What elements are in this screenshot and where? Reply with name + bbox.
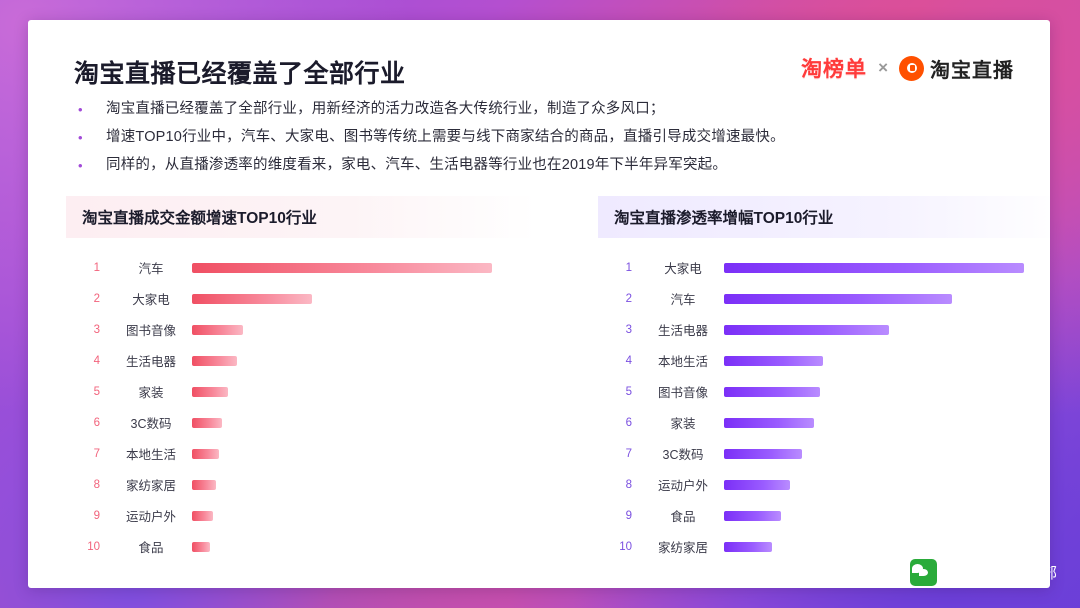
bar-category-label: 图书音像 (110, 320, 192, 339)
chart-panel-penetration-growth: 淘宝直播渗透率增幅TOP10行业 1大家电2汽车3生活电器4本地生活5图书音像6… (598, 196, 1050, 570)
table-row: 63C数码 (66, 407, 536, 438)
bar-track (724, 387, 1050, 397)
bar-track (724, 263, 1050, 273)
table-row: 8运动户外 (598, 469, 1050, 500)
bar-category-label: 运动户外 (110, 506, 192, 525)
bar-track (192, 511, 536, 521)
bar-track (192, 449, 536, 459)
bar (724, 356, 823, 366)
bar (724, 418, 814, 428)
table-row: 8家纺家居 (66, 469, 536, 500)
table-row: 1汽车 (66, 252, 536, 283)
table-row: 73C数码 (598, 438, 1050, 469)
chart-title: 淘宝直播成交金额增速TOP10行业 (66, 196, 536, 238)
bar-rank: 1 (598, 262, 642, 274)
bar-track (724, 356, 1050, 366)
bar-category-label: 家纺家居 (642, 537, 724, 556)
bar-rank: 9 (598, 510, 642, 522)
brand-taobangdan: 淘榜单 (801, 53, 867, 83)
bar-rank: 10 (598, 541, 642, 553)
bar-track (724, 418, 1050, 428)
table-row: 3图书音像 (66, 314, 536, 345)
bullet-marker-icon: • (74, 156, 106, 175)
bullet-text: 淘宝直播已经覆盖了全部行业，用新经济的活力改造各大传统行业，制造了众多风口； (106, 100, 665, 119)
table-row: 7本地生活 (66, 438, 536, 469)
bar (192, 387, 228, 397)
chart-title: 淘宝直播渗透率增幅TOP10行业 (598, 196, 1050, 238)
bar (724, 449, 802, 459)
bar (192, 325, 243, 335)
bar (724, 263, 1024, 273)
bar-rank: 5 (66, 386, 110, 398)
table-row: 10家纺家居 (598, 531, 1050, 562)
bar (724, 387, 820, 397)
bar-category-label: 本地生活 (110, 444, 192, 463)
taobao-live-icon (899, 56, 924, 81)
bar-category-label: 家装 (642, 413, 724, 432)
table-row: 1大家电 (598, 252, 1050, 283)
bar-category-label: 汽车 (110, 258, 192, 277)
bar-rank: 2 (66, 293, 110, 305)
list-item: • 增速TOP10行业中，汽车、大家电、图书等传统上需要与线下商家结合的商品，直… (74, 128, 1004, 147)
page-title: 淘宝直播已经覆盖了全部行业 (74, 54, 406, 90)
bar-category-label: 本地生活 (642, 351, 724, 370)
bar (724, 511, 781, 521)
bar-track (724, 542, 1050, 552)
bar-category-label: 生活电器 (110, 351, 192, 370)
bar-category-label: 运动户外 (642, 475, 724, 494)
list-item: • 同样的，从直播渗透率的维度看来，家电、汽车、生活电器等行业也在2019年下半… (74, 156, 1004, 175)
bullet-marker-icon: • (74, 100, 106, 119)
bar (192, 294, 312, 304)
table-row: 4本地生活 (598, 345, 1050, 376)
table-row: 4生活电器 (66, 345, 536, 376)
brand-bar: 淘榜单 × 淘宝直播 (801, 53, 1014, 83)
brand-taobao-live-text: 淘宝直播 (930, 54, 1014, 83)
bar-track (192, 294, 536, 304)
brand-taobao-live: 淘宝直播 (899, 54, 1014, 83)
bar (192, 356, 237, 366)
bar-rank: 7 (598, 448, 642, 460)
bar (724, 294, 952, 304)
bar-rank: 5 (598, 386, 642, 398)
bar-track (192, 263, 536, 273)
bar-track (192, 480, 536, 490)
bar-category-label: 大家电 (642, 258, 724, 277)
brand-separator-icon: × (878, 58, 888, 78)
bar-rank: 4 (66, 355, 110, 367)
bar-rank: 10 (66, 541, 110, 553)
bar (724, 325, 889, 335)
table-row: 3生活电器 (598, 314, 1050, 345)
table-row: 6家装 (598, 407, 1050, 438)
bar-track (724, 449, 1050, 459)
table-row: 10食品 (66, 531, 536, 562)
bar-category-label: 3C数码 (642, 444, 724, 463)
watermark: 我爱学习俱乐部 (910, 559, 1058, 586)
chart-panel-gmv-growth: 淘宝直播成交金额增速TOP10行业 1汽车2大家电3图书音像4生活电器5家装63… (66, 196, 536, 570)
slide-card: 淘宝直播已经覆盖了全部行业 淘榜单 × 淘宝直播 • 淘宝直播已经覆盖了全部行业… (28, 20, 1050, 588)
bar-track (724, 325, 1050, 335)
bar-track (192, 356, 536, 366)
wechat-logo-icon (910, 559, 937, 586)
brand-taobangdan-text: 淘榜单 (801, 53, 867, 83)
bar-track (192, 418, 536, 428)
bar-category-label: 生活电器 (642, 320, 724, 339)
table-row: 2汽车 (598, 283, 1050, 314)
bar-category-label: 图书音像 (642, 382, 724, 401)
bar-track (724, 511, 1050, 521)
bar-category-label: 食品 (110, 537, 192, 556)
bar-rank: 3 (66, 324, 110, 336)
bullet-list: • 淘宝直播已经覆盖了全部行业，用新经济的活力改造各大传统行业，制造了众多风口；… (74, 100, 1004, 184)
bar-category-label: 汽车 (642, 289, 724, 308)
bar (724, 480, 790, 490)
bar (192, 263, 492, 273)
watermark-text: 我爱学习俱乐部 (946, 562, 1058, 583)
bar-rank: 8 (598, 479, 642, 491)
bullet-marker-icon: • (74, 128, 106, 147)
bar-track (724, 294, 1050, 304)
list-item: • 淘宝直播已经覆盖了全部行业，用新经济的活力改造各大传统行业，制造了众多风口； (74, 100, 1004, 119)
bullet-text: 增速TOP10行业中，汽车、大家电、图书等传统上需要与线下商家结合的商品，直播引… (106, 128, 785, 147)
table-row: 5图书音像 (598, 376, 1050, 407)
bar-track (192, 387, 536, 397)
bar-category-label: 3C数码 (110, 413, 192, 432)
bar (724, 542, 772, 552)
bar (192, 511, 213, 521)
bar-category-label: 食品 (642, 506, 724, 525)
bar-track (724, 480, 1050, 490)
bar-category-label: 大家电 (110, 289, 192, 308)
bar-rows: 1汽车2大家电3图书音像4生活电器5家装63C数码7本地生活8家纺家居9运动户外… (66, 238, 536, 562)
bar-category-label: 家装 (110, 382, 192, 401)
table-row: 2大家电 (66, 283, 536, 314)
bar (192, 542, 210, 552)
bar-rows: 1大家电2汽车3生活电器4本地生活5图书音像6家装73C数码8运动户外9食品10… (598, 238, 1050, 562)
bar-track (192, 542, 536, 552)
bar-rank: 9 (66, 510, 110, 522)
bar-rank: 7 (66, 448, 110, 460)
bar (192, 480, 216, 490)
bar (192, 449, 219, 459)
bar-rank: 4 (598, 355, 642, 367)
bar-rank: 3 (598, 324, 642, 336)
bar-track (192, 325, 536, 335)
bar-rank: 8 (66, 479, 110, 491)
bar-rank: 2 (598, 293, 642, 305)
table-row: 5家装 (66, 376, 536, 407)
table-row: 9食品 (598, 500, 1050, 531)
table-row: 9运动户外 (66, 500, 536, 531)
bar-category-label: 家纺家居 (110, 475, 192, 494)
bar-rank: 1 (66, 262, 110, 274)
bullet-text: 同样的，从直播渗透率的维度看来，家电、汽车、生活电器等行业也在2019年下半年异… (106, 156, 727, 175)
bar-rank: 6 (66, 417, 110, 429)
bar-rank: 6 (598, 417, 642, 429)
bar (192, 418, 222, 428)
